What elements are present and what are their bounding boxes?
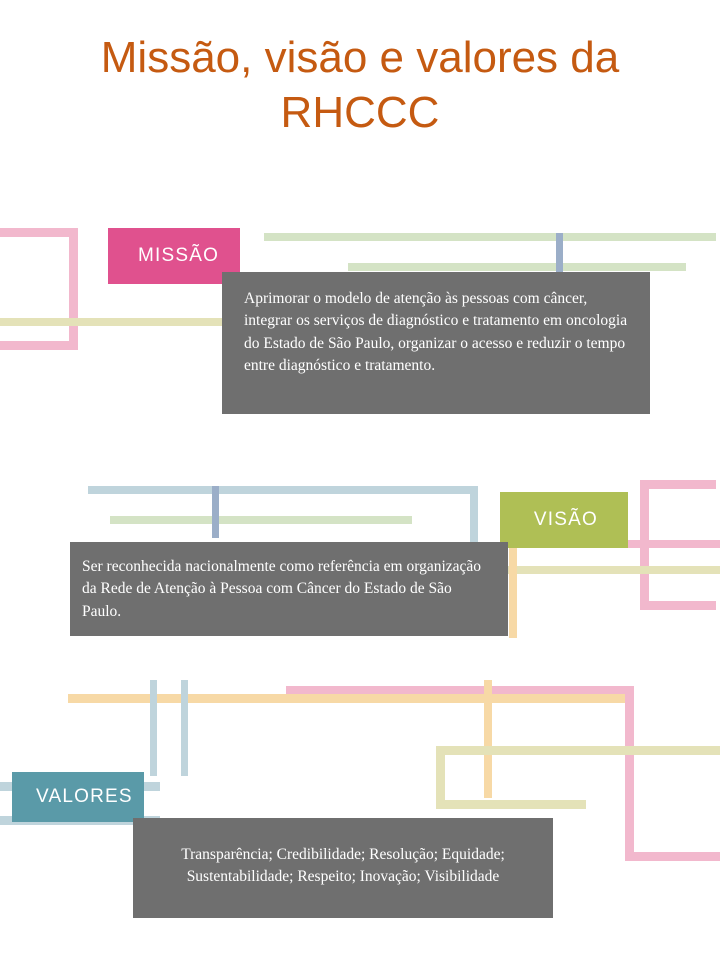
ribbon-bar bbox=[150, 680, 157, 776]
ribbon-bar bbox=[286, 686, 634, 694]
ribbon-bar bbox=[509, 540, 517, 638]
ribbon-bar bbox=[88, 486, 478, 494]
ribbon-bar bbox=[640, 601, 716, 610]
section-label-valores: VALORES bbox=[12, 772, 144, 822]
section-text-missao: Aprimorar o modelo de atenção às pessoas… bbox=[222, 272, 650, 414]
ribbon-bar bbox=[69, 228, 78, 350]
ribbon-bar bbox=[181, 680, 188, 776]
ribbon-bar bbox=[436, 746, 445, 808]
page-title-line1: Missão, visão e valores da bbox=[0, 30, 720, 85]
ribbon-bar bbox=[436, 746, 720, 755]
ribbon-bar bbox=[110, 516, 412, 524]
ribbon-bar bbox=[640, 480, 716, 489]
page-title: Missão, visão e valores da RHCCC bbox=[0, 30, 720, 140]
section-label-missao: MISSÃO bbox=[108, 228, 240, 284]
ribbon-bar bbox=[348, 263, 686, 271]
page-title-line2: RHCCC bbox=[0, 85, 720, 140]
ribbon-bar bbox=[508, 566, 720, 574]
section-label-visao-text: VISÃO bbox=[534, 509, 598, 531]
ribbon-bar bbox=[470, 486, 478, 548]
section-text-valores-body: Transparência; Credibilidade; Resolução;… bbox=[153, 844, 533, 889]
ribbon-bar bbox=[264, 233, 716, 241]
section-text-visao-body: Ser reconhecida nacionalmente como refer… bbox=[82, 556, 482, 623]
section-text-missao-body: Aprimorar o modelo de atenção às pessoas… bbox=[244, 288, 628, 378]
ribbon-bar bbox=[436, 800, 586, 809]
section-label-valores-text: VALORES bbox=[36, 786, 133, 808]
ribbon-bar bbox=[625, 694, 634, 860]
section-text-visao: Ser reconhecida nacionalmente como refer… bbox=[70, 542, 508, 636]
ribbon-bar bbox=[0, 341, 78, 350]
ribbon-bar bbox=[484, 680, 492, 798]
ribbon-bar bbox=[212, 486, 219, 538]
ribbon-bar bbox=[0, 318, 236, 326]
section-label-visao: VISÃO bbox=[500, 492, 628, 548]
section-text-valores: Transparência; Credibilidade; Resolução;… bbox=[133, 818, 553, 918]
ribbon-bar bbox=[556, 233, 563, 273]
section-label-missao-text: MISSÃO bbox=[138, 245, 219, 267]
ribbon-bar bbox=[625, 852, 720, 861]
ribbon-bar bbox=[0, 228, 78, 237]
poster-page: Missão, visão e valores da RHCCC MISSÃO … bbox=[0, 0, 720, 960]
